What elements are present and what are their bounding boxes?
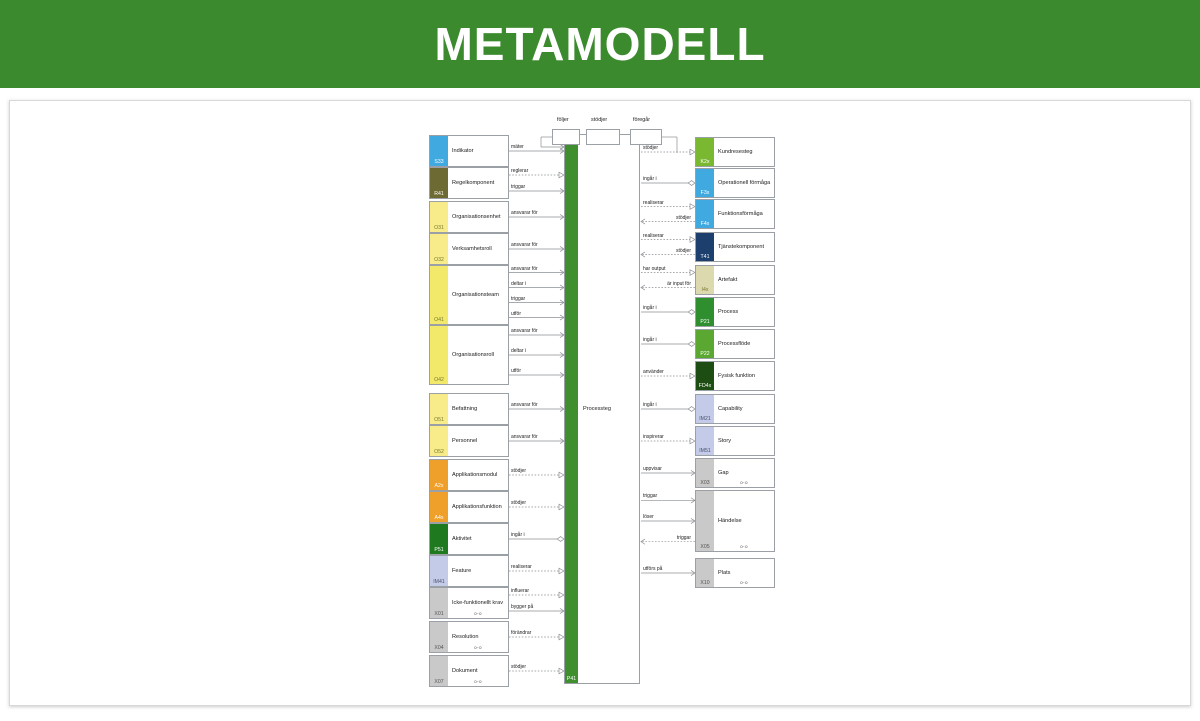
relation-label: triggar <box>643 535 691 541</box>
relation-label: realiserar <box>643 233 664 239</box>
relation-label: stödjer <box>643 145 658 151</box>
entity-label: Operationell förmåga <box>714 180 770 187</box>
entity-box[interactable]: IM51Story <box>695 426 775 456</box>
entity-box[interactable]: O42Organisationsroll <box>429 325 509 385</box>
entity-body: Funktionsförmåga <box>714 200 774 228</box>
diagram-canvas: S33IndikatormäterR41Regelkomponentregler… <box>10 101 1190 705</box>
entity-body: Indikator <box>448 136 508 166</box>
entity-color-stripe: O41 <box>430 266 448 324</box>
entity-label: Fysisk funktion <box>714 373 755 380</box>
diagram-panel: S33IndikatormäterR41Regelkomponentregler… <box>9 100 1191 706</box>
entity-color-stripe: P51 <box>430 524 448 554</box>
entity-color-stripe: O32 <box>430 234 448 264</box>
entity-code: O51 <box>430 417 448 423</box>
entity-box[interactable]: P51Aktivitet <box>429 523 509 555</box>
entity-box[interactable]: A2xApplikationsmodul <box>429 459 509 491</box>
entity-body: Personnel <box>448 426 508 456</box>
entity-color-stripe: O52 <box>430 426 448 456</box>
entity-label: Tjänstekomponent <box>714 244 764 251</box>
relation-label: har output <box>643 266 666 272</box>
entity-color-stripe: X10 <box>696 559 714 587</box>
entity-code: F3x <box>696 190 714 196</box>
relation-label: förändrar <box>511 630 531 636</box>
relation-label: är input för <box>643 281 691 287</box>
entity-box[interactable]: F3xOperationell förmåga <box>695 168 775 198</box>
self-relation-label: föregår <box>633 117 650 123</box>
relation-label: ingår i <box>643 402 657 408</box>
entity-code: X10 <box>696 580 714 586</box>
entity-label: Story <box>714 438 731 445</box>
relation-label: stödjer <box>643 248 691 254</box>
entity-box[interactable]: X05Händelseo-o <box>695 490 775 552</box>
entity-color-stripe: F4x <box>696 200 714 228</box>
entity-body: Operationell förmåga <box>714 169 774 197</box>
entity-code: I4x <box>696 287 714 293</box>
entity-label: Händelse <box>714 518 742 525</box>
entity-body: Organisationsroll <box>448 326 508 384</box>
entity-color-stripe: FD4x <box>696 362 714 390</box>
entity-color-stripe: A4x <box>430 492 448 522</box>
entity-label: Dokument <box>448 668 478 675</box>
entity-box[interactable]: X10Platso-o <box>695 558 775 588</box>
entity-code: O31 <box>430 225 448 231</box>
entity-box[interactable]: X01Icke-funktionellt kravo-o <box>429 587 509 619</box>
entity-label: Befattning <box>448 406 477 413</box>
relation-label: ingår i <box>511 532 525 538</box>
entity-label: Indikator <box>448 148 473 155</box>
entity-code: F4x <box>696 221 714 227</box>
entity-code: X01 <box>430 611 448 617</box>
entity-body: Processflöde <box>714 330 774 358</box>
entity-body: Verksamhetsroll <box>448 234 508 264</box>
entity-body: Organisationsteam <box>448 266 508 324</box>
relation-label: ansvarar för <box>511 402 538 408</box>
relation-label: triggar <box>643 493 657 499</box>
entity-body: Resolutiono-o <box>448 622 508 652</box>
center-entity-code: P41 <box>565 676 578 682</box>
entity-body: Applikationsfunktion <box>448 492 508 522</box>
relation-label: triggar <box>511 296 525 302</box>
relation-label: ansvarar för <box>511 434 538 440</box>
relation-label: triggar <box>511 184 525 190</box>
entity-box[interactable]: O52Personnel <box>429 425 509 457</box>
entity-body: Capability <box>714 395 774 423</box>
entity-sub-marker: o-o <box>448 679 508 684</box>
entity-body: Fysisk funktion <box>714 362 774 390</box>
page-banner: METAMODELL <box>0 0 1200 88</box>
entity-color-stripe: P21 <box>696 298 714 326</box>
relation-label: utför <box>511 311 521 317</box>
entity-body: Story <box>714 427 774 455</box>
entity-box[interactable]: O41Organisationsteam <box>429 265 509 325</box>
entity-label: Organisationsenhet <box>448 214 501 221</box>
entity-color-stripe: F3x <box>696 169 714 197</box>
entity-body: Dokumento-o <box>448 656 508 686</box>
entity-body: Aktivitet <box>448 524 508 554</box>
center-color-stripe: P41 <box>565 135 578 683</box>
relation-label: stödjer <box>511 500 526 506</box>
entity-code: R41 <box>430 191 448 197</box>
entity-color-stripe: O42 <box>430 326 448 384</box>
entity-box[interactable]: A4xApplikationsfunktion <box>429 491 509 523</box>
center-entity-body: Processteg <box>578 135 639 683</box>
entity-code: T41 <box>696 254 714 260</box>
relation-label: mäter <box>511 144 524 150</box>
relation-label: stödjer <box>511 664 526 670</box>
entity-label: Verksamhetsroll <box>448 246 492 253</box>
entity-color-stripe: X07 <box>430 656 448 686</box>
center-entity-processteg[interactable]: P41Processteg <box>564 134 640 684</box>
relation-label: stödjer <box>511 468 526 474</box>
entity-code: P21 <box>696 319 714 325</box>
self-relation-box <box>552 129 580 145</box>
entity-color-stripe: P22 <box>696 330 714 358</box>
entity-label: Artefakt <box>714 277 737 284</box>
entity-label: Organisationsroll <box>448 352 494 359</box>
entity-label: Aktivitet <box>448 536 472 543</box>
entity-box[interactable]: T41Tjänstekomponent <box>695 232 775 262</box>
entity-label: Funktionsförmåga <box>714 211 763 218</box>
entity-code: O52 <box>430 449 448 455</box>
entity-box[interactable]: IM21Capability <box>695 394 775 424</box>
entity-color-stripe: IM41 <box>430 556 448 586</box>
entity-body: Process <box>714 298 774 326</box>
entity-label: Applikationsmodul <box>448 472 497 479</box>
entity-box[interactable]: F4xFunktionsförmåga <box>695 199 775 229</box>
entity-color-stripe: A2x <box>430 460 448 490</box>
entity-color-stripe: IM51 <box>696 427 714 455</box>
entity-box[interactable]: FD4xFysisk funktion <box>695 361 775 391</box>
entity-code: O32 <box>430 257 448 263</box>
relation-label: ingår i <box>643 176 657 182</box>
entity-code: P22 <box>696 351 714 357</box>
relation-label: ansvarar för <box>511 266 538 272</box>
entity-code: K2x <box>696 159 714 165</box>
entity-color-stripe: IM21 <box>696 395 714 423</box>
entity-box[interactable]: X07Dokumento-o <box>429 655 509 687</box>
entity-label: Capability <box>714 406 743 413</box>
entity-box[interactable]: K2xKundresesteg <box>695 137 775 167</box>
entity-box[interactable]: X04Resolutiono-o <box>429 621 509 653</box>
relation-label: ansvarar för <box>511 242 538 248</box>
entity-sub-marker: o-o <box>448 645 508 650</box>
entity-body: Tjänstekomponent <box>714 233 774 261</box>
page-title: METAMODELL <box>434 17 765 71</box>
self-relation-label: stödjer <box>591 117 607 123</box>
entity-box[interactable]: X03Gapo-o <box>695 458 775 488</box>
entity-sub-marker: o-o <box>714 580 774 585</box>
entity-label: Processflöde <box>714 341 750 348</box>
entity-color-stripe: O31 <box>430 202 448 232</box>
relation-label: använder <box>643 369 664 375</box>
entity-code: FD4x <box>696 383 714 389</box>
entity-body: Regelkomponent <box>448 168 508 198</box>
entity-color-stripe: T41 <box>696 233 714 261</box>
relation-label: influerar <box>511 588 529 594</box>
entity-color-stripe: O51 <box>430 394 448 424</box>
relation-label: utförs på <box>643 566 662 572</box>
entity-label: Gap <box>714 470 729 477</box>
relation-label: ansvarar för <box>511 328 538 334</box>
entity-box[interactable]: IM41Feature <box>429 555 509 587</box>
entity-color-stripe: X01 <box>430 588 448 618</box>
entity-body: Händelseo-o <box>714 491 774 551</box>
relation-label: bygger på <box>511 604 533 610</box>
entity-code: X05 <box>696 544 714 550</box>
entity-code: IM41 <box>430 579 448 585</box>
entity-color-stripe: X05 <box>696 491 714 551</box>
entity-label: Personnel <box>448 438 477 445</box>
entity-box[interactable]: P22Processflöde <box>695 329 775 359</box>
entity-code: IM21 <box>696 416 714 422</box>
entity-box[interactable]: O32Verksamhetsroll <box>429 233 509 265</box>
entity-label: Organisationsteam <box>448 292 499 299</box>
relation-label: ingår i <box>643 305 657 311</box>
entity-body: Befattning <box>448 394 508 424</box>
entity-code: O41 <box>430 317 448 323</box>
entity-sub-marker: o-o <box>448 611 508 616</box>
relation-label: utför <box>511 368 521 374</box>
relation-label: ingår i <box>643 337 657 343</box>
relation-label: realiserar <box>511 564 532 570</box>
relation-label: uppvisar <box>643 466 662 472</box>
entity-code: O42 <box>430 377 448 383</box>
metamodel-diagram: S33IndikatormäterR41Regelkomponentregler… <box>10 101 1190 705</box>
entity-box[interactable]: P21Process <box>695 297 775 327</box>
metamodel-page: METAMODELL S33IndikatormäterR41Regelkomp… <box>0 0 1200 721</box>
entity-code: P51 <box>430 547 448 553</box>
entity-box[interactable]: I4xArtefakt <box>695 265 775 295</box>
entity-code: X03 <box>696 480 714 486</box>
entity-box[interactable]: O31Organisationsenhet <box>429 201 509 233</box>
entity-body: Icke-funktionellt kravo-o <box>448 588 508 618</box>
entity-label: Resolution <box>448 634 478 641</box>
entity-code: S33 <box>430 159 448 165</box>
relation-label: stödjer <box>643 215 691 221</box>
entity-label: Applikationsfunktion <box>448 504 502 511</box>
self-relation-box <box>586 129 620 145</box>
entity-color-stripe: X04 <box>430 622 448 652</box>
self-relation-box <box>630 129 662 145</box>
entity-body: Artefakt <box>714 266 774 294</box>
entity-code: X07 <box>430 679 448 685</box>
entity-color-stripe: R41 <box>430 168 448 198</box>
entity-label: Kundresesteg <box>714 149 753 156</box>
entity-sub-marker: o-o <box>714 480 774 485</box>
entity-code: X04 <box>430 645 448 651</box>
entity-label: Regelkomponent <box>448 180 494 187</box>
relation-label: deltar i <box>511 348 526 354</box>
relation-label: reglerar <box>511 168 528 174</box>
entity-label: Process <box>714 309 738 316</box>
entity-label: Plats <box>714 570 730 577</box>
entity-color-stripe: K2x <box>696 138 714 166</box>
entity-sub-marker: o-o <box>714 544 774 549</box>
relation-label: deltar i <box>511 281 526 287</box>
self-relation-label: följer <box>557 117 569 123</box>
entity-box[interactable]: O51Befattning <box>429 393 509 425</box>
entity-body: Kundresesteg <box>714 138 774 166</box>
entity-body: Gapo-o <box>714 459 774 487</box>
center-entity-label: Processteg <box>583 406 611 412</box>
entity-label: Feature <box>448 568 471 575</box>
entity-body: Applikationsmodul <box>448 460 508 490</box>
entity-code: IM51 <box>696 448 714 454</box>
relation-label: ansvarar för <box>511 210 538 216</box>
entity-code: A4x <box>430 515 448 521</box>
entity-body: Feature <box>448 556 508 586</box>
entity-box[interactable]: S33Indikator <box>429 135 509 167</box>
entity-box[interactable]: R41Regelkomponent <box>429 167 509 199</box>
entity-code: A2x <box>430 483 448 489</box>
relation-label: löser <box>643 514 654 520</box>
relation-label: realiserar <box>643 200 664 206</box>
entity-body: Platso-o <box>714 559 774 587</box>
entity-color-stripe: I4x <box>696 266 714 294</box>
entity-label: Icke-funktionellt krav <box>448 600 503 607</box>
entity-body: Organisationsenhet <box>448 202 508 232</box>
entity-color-stripe: X03 <box>696 459 714 487</box>
relation-label: inspirerar <box>643 434 664 440</box>
entity-color-stripe: S33 <box>430 136 448 166</box>
